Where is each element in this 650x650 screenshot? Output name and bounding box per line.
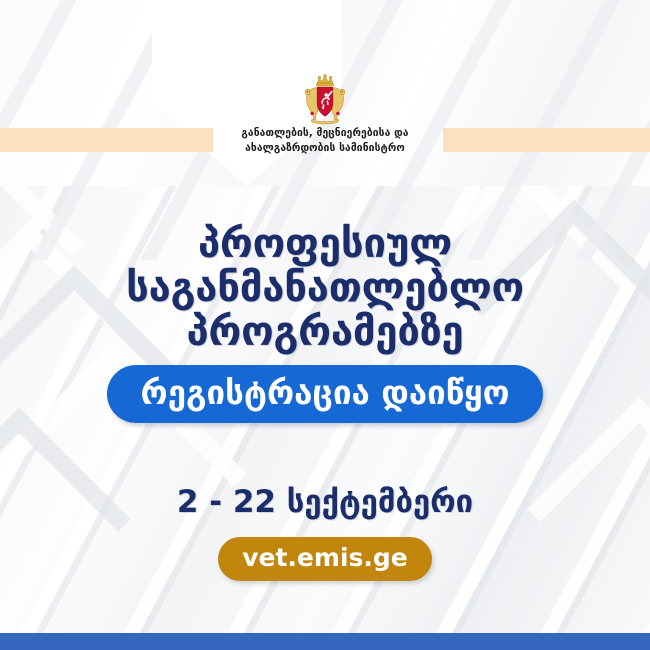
website-url-button[interactable]: vet.emis.ge: [218, 537, 432, 581]
bottom-accent-bar: [0, 633, 650, 650]
page-title: პროფესიულ საგანმანათლებლო პროგრამებზე: [0, 222, 650, 354]
page-title-line-1: პროფესიულ: [0, 222, 650, 266]
date-range-text: 2 - 22 სექტემბერი: [0, 487, 650, 518]
website-link-container: vet.emis.ge: [0, 537, 650, 581]
registration-open-badge: რეგისტრაცია დაიწყო: [107, 365, 544, 423]
page-title-line-2: საგანმანათლებლო: [0, 266, 650, 310]
ministry-name: განათლების, მეცნიერებისა და ახალგაზრდობი…: [0, 126, 650, 156]
georgian-coat-of-arms-icon: [297, 72, 353, 128]
ministry-name-line-2: ახალგაზრდობის სამინისტრო: [0, 141, 650, 156]
registration-badge-container: რეგისტრაცია დაიწყო: [0, 365, 650, 423]
ministry-name-line-1: განათლების, მეცნიერებისა და: [0, 126, 650, 141]
emblem-container: [0, 72, 650, 128]
announcement-poster: განათლების, მეცნიერებისა და ახალგაზრდობი…: [0, 0, 650, 650]
page-title-line-3: პროგრამებზე: [0, 310, 650, 354]
